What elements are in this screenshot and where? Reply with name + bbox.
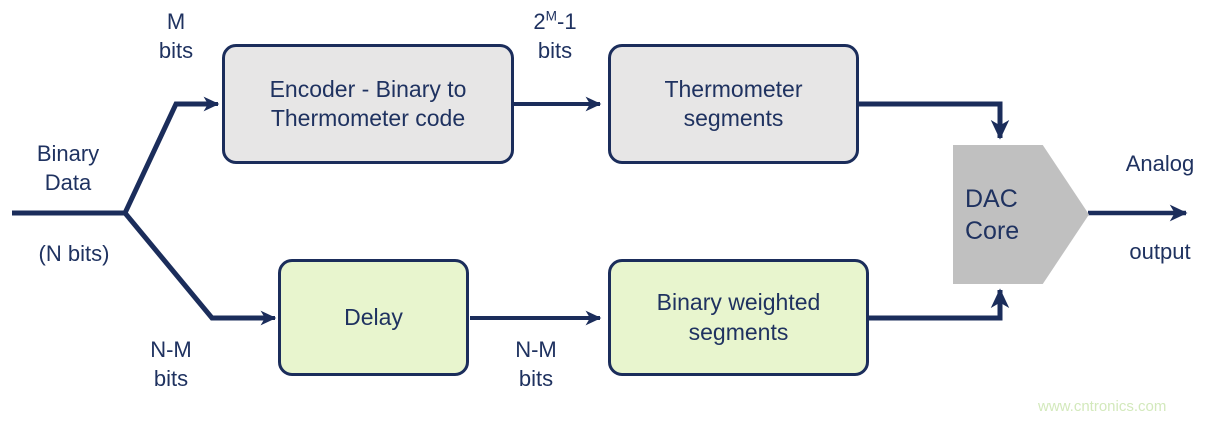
block-binary-weighted-segments[interactable]: Binary weighted segments [608,259,869,376]
block-diagram-canvas: Encoder - Binary to Thermometer code The… [0,0,1230,431]
label-n-minus-m-bits-input: N-M bits [132,336,210,393]
block-thermometer-line1: Thermometer [664,75,802,104]
label-2m-minus-1-expression: 2M-1 [505,8,605,37]
label-n-minus-m-bits-output: N-M bits [492,336,580,393]
block-dac-core-line1: DAC [965,183,1019,215]
label-n-bits: (N bits) [12,240,136,269]
block-encoder[interactable]: Encoder - Binary to Thermometer code [222,44,514,164]
label-m-bits: M bits [140,8,212,65]
label-2m-suffix: -1 [557,9,577,34]
label-binary-data-line2: Data [12,169,124,198]
block-delay-line1: Delay [344,303,403,332]
block-thermometer-line2: segments [664,104,802,133]
label-nm-bits-in-line1: N-M [132,336,210,365]
label-binary-data-line1: Binary [12,140,124,169]
block-encoder-line1: Encoder - Binary to [270,75,467,104]
block-binary-weighted-line1: Binary weighted [657,288,821,317]
label-2m-base: 2 [533,9,545,34]
wire-fork-lower [125,213,268,318]
block-dac-core-line2: Core [965,215,1019,247]
wire-binary-weighted-to-dac [869,290,1000,318]
label-2m-minus-1-bits: 2M-1 bits [505,8,605,65]
label-m-bits-line1: M [140,8,212,37]
block-thermometer-segments[interactable]: Thermometer segments [608,44,859,164]
block-delay[interactable]: Delay [278,259,469,376]
label-2m-minus-1-bits-word: bits [505,37,605,66]
label-2m-exponent: M [546,9,557,24]
label-nm-bits-in-line2: bits [132,365,210,394]
block-binary-weighted-line2: segments [657,318,821,347]
wire-thermometer-to-dac [859,104,1000,138]
label-m-bits-line2: bits [140,37,212,66]
label-binary-data: Binary Data [12,140,124,197]
watermark: www.cntronics.com [1038,398,1166,415]
label-nm-bits-out-line1: N-M [492,336,580,365]
block-encoder-line2: Thermometer code [270,104,467,133]
label-nm-bits-out-line2: bits [492,365,580,394]
label-analog: Analog [1104,150,1216,179]
wire-fork-upper [125,104,211,213]
label-output: output [1104,238,1216,267]
